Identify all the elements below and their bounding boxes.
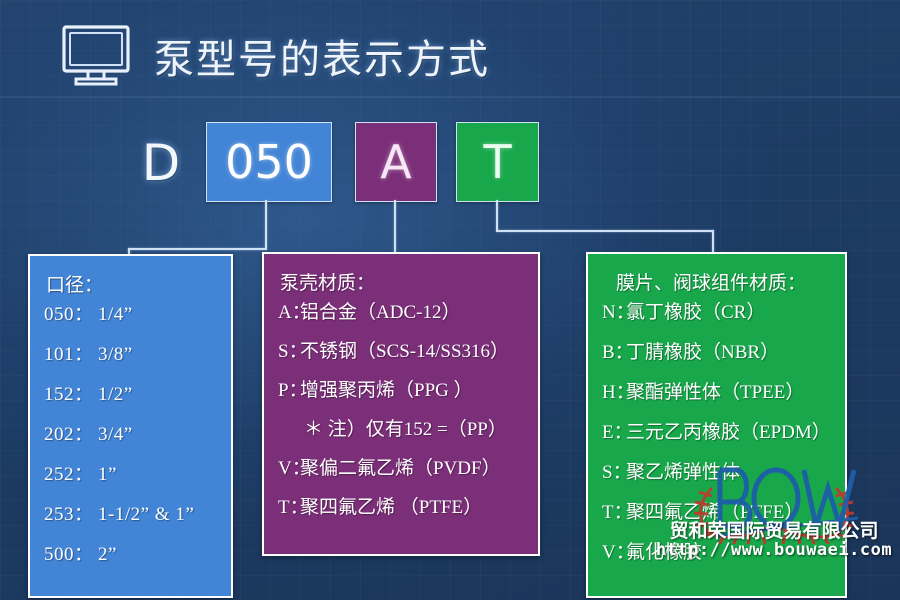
panel-casing-material: 泵壳材质： A：铝合金（ADC-12） S：不锈钢（SCS-14/SS316） … <box>262 252 540 556</box>
list-item: T：聚四氟乙烯（PTFE） <box>602 503 831 522</box>
list-item: 101：3/8” <box>44 345 217 364</box>
diaphragm-code: S： <box>602 463 626 482</box>
connector-050-horizontal <box>128 248 267 250</box>
panel-diaphragm-material: 膜片、阀球组件材质： N：氯丁橡胶（CR） B：丁腈橡胶（NBR） H：聚酯弹性… <box>586 252 847 598</box>
list-item: 050：1/4” <box>44 305 217 324</box>
bore-code: 101： <box>44 345 98 364</box>
panel-diaphragm-title: 膜片、阀球组件材质： <box>616 268 831 295</box>
connector-050-vertical-a <box>265 200 267 249</box>
background-band <box>0 96 900 98</box>
casing-code: A： <box>278 303 300 322</box>
bore-value: 1-1/2” & 1” <box>98 504 194 525</box>
panel-bore: 口径： 050：1/4” 101：3/8” 152：1/2” 202：3/4” … <box>28 254 233 598</box>
diaphragm-code: T： <box>602 503 626 522</box>
casing-value: 不锈钢（SCS-14/SS316） <box>300 341 509 362</box>
diaphragm-value: 氯丁橡胶（CR） <box>626 302 765 323</box>
casing-note: ＊ 注）仅有152 =（PP） <box>304 419 507 440</box>
panel-casing-title: 泵壳材质： <box>280 268 524 295</box>
code-chip-t[interactable]: T <box>456 122 539 202</box>
diaphragm-code: V： <box>602 543 626 562</box>
bore-value: 3/4” <box>98 424 133 445</box>
diaphragm-value: 聚乙烯弹性体 <box>626 462 740 483</box>
casing-code: S： <box>278 342 300 361</box>
code-chip-a-label: A <box>380 139 411 185</box>
list-item: E：三元乙丙橡胶（EPDM） <box>602 423 831 442</box>
diaphragm-code: B： <box>602 343 626 362</box>
panel-bore-list: 050：1/4” 101：3/8” 152：1/2” 202：3/4” 252：… <box>44 305 217 564</box>
list-item: S：聚乙烯弹性体 <box>602 463 831 482</box>
diaphragm-value: 聚酯弹性体（TPEE） <box>626 382 804 403</box>
casing-value: 聚偏二氟乙烯（PVDF） <box>300 458 501 479</box>
casing-code: P： <box>278 381 300 400</box>
bore-code: 202： <box>44 425 98 444</box>
list-item: P：增强聚丙烯（PPG ） <box>278 381 524 400</box>
bore-value: 3/8” <box>98 344 133 365</box>
bore-value: 1/4” <box>98 304 133 325</box>
list-item: 152：1/2” <box>44 385 217 404</box>
list-item-note: ＊ 注）仅有152 =（PP） <box>278 420 524 439</box>
diaphragm-value: 丁腈橡胶（NBR） <box>626 342 779 363</box>
code-chip-a[interactable]: A <box>355 122 437 202</box>
monitor-icon <box>60 24 132 88</box>
list-item: 252：1” <box>44 465 217 484</box>
bore-code: 500： <box>44 545 98 564</box>
list-item: T：聚四氟乙烯 （PTFE） <box>278 498 524 517</box>
code-chip-050-label: 050 <box>225 139 313 185</box>
list-item: V：聚偏二氟乙烯（PVDF） <box>278 459 524 478</box>
list-item: 202：3/4” <box>44 425 217 444</box>
slide-canvas: 泵型号的表示方式 D 050 A T 口径： 050：1/4” 101：3/8”… <box>0 0 900 600</box>
header: 泵型号的表示方式 <box>60 24 490 88</box>
bore-value: 1” <box>98 464 117 485</box>
list-item: S：不锈钢（SCS-14/SS316） <box>278 342 524 361</box>
casing-value: 增强聚丙烯（PPG ） <box>300 380 473 401</box>
bore-code: 252： <box>44 465 98 484</box>
diaphragm-code: H： <box>602 383 626 402</box>
bore-code: 152： <box>44 385 98 404</box>
casing-value: 铝合金（ADC-12） <box>300 302 460 323</box>
casing-code: T： <box>278 498 300 517</box>
list-item: B：丁腈橡胶（NBR） <box>602 343 831 362</box>
list-item: 253：1-1/2” & 1” <box>44 505 217 524</box>
casing-value: 聚四氟乙烯 （PTFE） <box>300 497 482 518</box>
bore-code: 253： <box>44 505 98 524</box>
bore-code: 050： <box>44 305 98 324</box>
bore-value: 1/2” <box>98 384 133 405</box>
connector-a-vertical <box>394 200 396 254</box>
panel-casing-list: A：铝合金（ADC-12） S：不锈钢（SCS-14/SS316） P：增强聚丙… <box>278 303 524 517</box>
connector-t-vertical-a <box>496 200 498 231</box>
list-item: A：铝合金（ADC-12） <box>278 303 524 322</box>
list-item: V：氟化橡胶 <box>602 543 831 562</box>
bore-value: 2” <box>98 544 117 565</box>
diaphragm-code: N： <box>602 303 626 322</box>
code-chip-d: D <box>133 128 189 198</box>
diaphragm-code: E： <box>602 423 626 442</box>
page-title: 泵型号的表示方式 <box>154 27 490 85</box>
diaphragm-value: 聚四氟乙烯（PTFE） <box>626 502 803 523</box>
list-item: 500：2” <box>44 545 217 564</box>
connector-t-horizontal <box>496 230 714 232</box>
panel-bore-title: 口径： <box>46 270 217 297</box>
code-chip-d-label: D <box>142 134 181 192</box>
connector-t-vertical-b <box>712 230 714 254</box>
code-chip-t-label: T <box>483 139 511 185</box>
diaphragm-value: 氟化橡胶 <box>626 542 702 563</box>
code-chip-050[interactable]: 050 <box>206 122 332 202</box>
panel-diaphragm-list: N：氯丁橡胶（CR） B：丁腈橡胶（NBR） H：聚酯弹性体（TPEE） E：三… <box>602 303 831 562</box>
diaphragm-value: 三元乙丙橡胶（EPDM） <box>626 422 831 443</box>
casing-code: V： <box>278 459 300 478</box>
list-item: H：聚酯弹性体（TPEE） <box>602 383 831 402</box>
list-item: N：氯丁橡胶（CR） <box>602 303 831 322</box>
